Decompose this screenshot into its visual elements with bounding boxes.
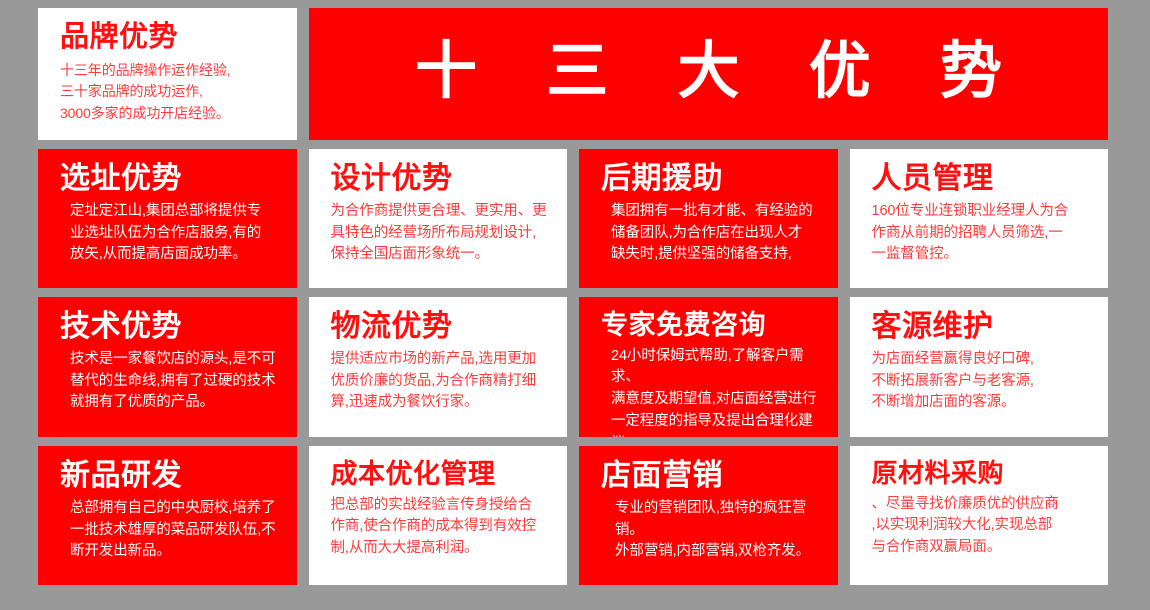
card-body: 定址定江山,集团总部将提供专 业选址队伍为合作店服务,有的 放矢,从而提高店面成…: [60, 201, 281, 266]
card-title: 专家免费咨询: [601, 311, 822, 340]
card-title: 品牌优势: [60, 22, 281, 53]
card-body: 十三年的品牌操作运作经验, 三十家品牌的成功运作, 3000多家的成功开店经验。: [60, 60, 281, 125]
banner-thirteen-advantages: 十 三 大 优 势: [309, 8, 1108, 140]
card-technology-advantage: 技术优势 技术是一家餐饮店的源头,是不可 替代的生命线,拥有了过硬的技术 就拥有…: [38, 297, 297, 437]
card-late-stage-support: 后期援助 集团拥有一批有才能、有经验的 储备团队,为合作店在出现人才 缺失时,提…: [579, 149, 838, 288]
card-body: 总部拥有自己的中央厨校,培养了 一批技术雄厚的菜品研发队伍,不 断开发出新品。: [60, 498, 281, 563]
banner-title: 十 三 大 优 势: [389, 41, 1028, 107]
card-body: 为店面经营赢得良好口碑, 不断拓展新客户与老客源, 不断增加店面的客源。: [872, 349, 1093, 414]
card-body: 专业的营销团队,独特的疯狂营销。 外部营销,内部营销,双枪齐发。: [601, 498, 822, 563]
card-body: 为合作商提供更合理、更实用、更 具特色的经营场所布局规划设计, 保持全国店面形象…: [331, 201, 552, 266]
advantages-board: 品牌优势 十三年的品牌操作运作经验, 三十家品牌的成功运作, 3000多家的成功…: [0, 0, 1150, 610]
card-logistics-advantage: 物流优势 提供适应市场的新产品,选用更加 优质价廉的货品,为合作商精打细 算,迅…: [309, 297, 568, 437]
card-title: 新品研发: [60, 460, 281, 492]
card-title: 人员管理: [872, 163, 1093, 195]
card-title: 设计优势: [331, 163, 552, 195]
card-title: 选址优势: [60, 163, 281, 195]
card-title: 后期援助: [601, 163, 822, 195]
card-design-advantage: 设计优势 为合作商提供更合理、更实用、更 具特色的经营场所布局规划设计, 保持全…: [309, 149, 568, 288]
card-title: 技术优势: [60, 311, 281, 343]
card-new-product-rnd: 新品研发 总部拥有自己的中央厨校,培养了 一批技术雄厚的菜品研发队伍,不 断开发…: [38, 446, 297, 585]
card-title: 物流优势: [331, 311, 552, 343]
card-body: 160位专业连锁职业经理人为合 作商从前期的招聘人员筛选,一 一监督管控。: [872, 201, 1093, 266]
card-title: 客源维护: [872, 311, 1093, 343]
board-row-3: 技术优势 技术是一家餐饮店的源头,是不可 替代的生命线,拥有了过硬的技术 就拥有…: [38, 297, 1108, 437]
card-expert-free-consultation: 专家免费咨询 24小时保姆式帮助,了解客户需求、 满意度及期望值,对店面经营进行…: [579, 297, 838, 437]
card-body: 技术是一家餐饮店的源头,是不可 替代的生命线,拥有了过硬的技术 就拥有了优质的产…: [60, 349, 281, 414]
card-body: 提供适应市场的新产品,选用更加 优质价廉的货品,为合作商精打细 算,迅速成为餐饮…: [331, 349, 552, 414]
card-brand-advantage: 品牌优势 十三年的品牌操作运作经验, 三十家品牌的成功运作, 3000多家的成功…: [38, 8, 297, 140]
card-personnel-management: 人员管理 160位专业连锁职业经理人为合 作商从前期的招聘人员筛选,一 一监督管…: [850, 149, 1109, 288]
card-body: 24小时保姆式帮助,了解客户需求、 满意度及期望值,对店面经营进行 一定程度的指…: [601, 346, 822, 437]
card-body: 集团拥有一批有才能、有经验的 储备团队,为合作店在出现人才 缺失时,提供坚强的储…: [601, 201, 822, 266]
board-row-4: 新品研发 总部拥有自己的中央厨校,培养了 一批技术雄厚的菜品研发队伍,不 断开发…: [38, 446, 1108, 585]
card-site-selection-advantage: 选址优势 定址定江山,集团总部将提供专 业选址队伍为合作店服务,有的 放矢,从而…: [38, 149, 297, 288]
card-title: 原材料采购: [872, 460, 1093, 488]
card-body: 、尽量寻找价廉质优的供应商 ,以实现利润较大化,实现总部 与合作商双赢局面。: [872, 494, 1093, 559]
card-title: 店面营销: [601, 460, 822, 492]
card-title: 成本优化管理: [331, 460, 552, 489]
board-row-2: 选址优势 定址定江山,集团总部将提供专 业选址队伍为合作店服务,有的 放矢,从而…: [38, 149, 1108, 288]
card-customer-retention: 客源维护 为店面经营赢得良好口碑, 不断拓展新客户与老客源, 不断增加店面的客源…: [850, 297, 1109, 437]
board-row-1: 品牌优势 十三年的品牌操作运作经验, 三十家品牌的成功运作, 3000多家的成功…: [38, 8, 1108, 140]
card-store-marketing: 店面营销 专业的营销团队,独特的疯狂营销。 外部营销,内部营销,双枪齐发。: [579, 446, 838, 585]
card-body: 把总部的实战经验言传身授给合 作商,使合作商的成本得到有效控 制,从而大大提高利…: [331, 495, 552, 560]
card-cost-optimization-management: 成本优化管理 把总部的实战经验言传身授给合 作商,使合作商的成本得到有效控 制,…: [309, 446, 568, 585]
card-raw-material-procurement: 原材料采购 、尽量寻找价廉质优的供应商 ,以实现利润较大化,实现总部 与合作商双…: [850, 446, 1109, 585]
